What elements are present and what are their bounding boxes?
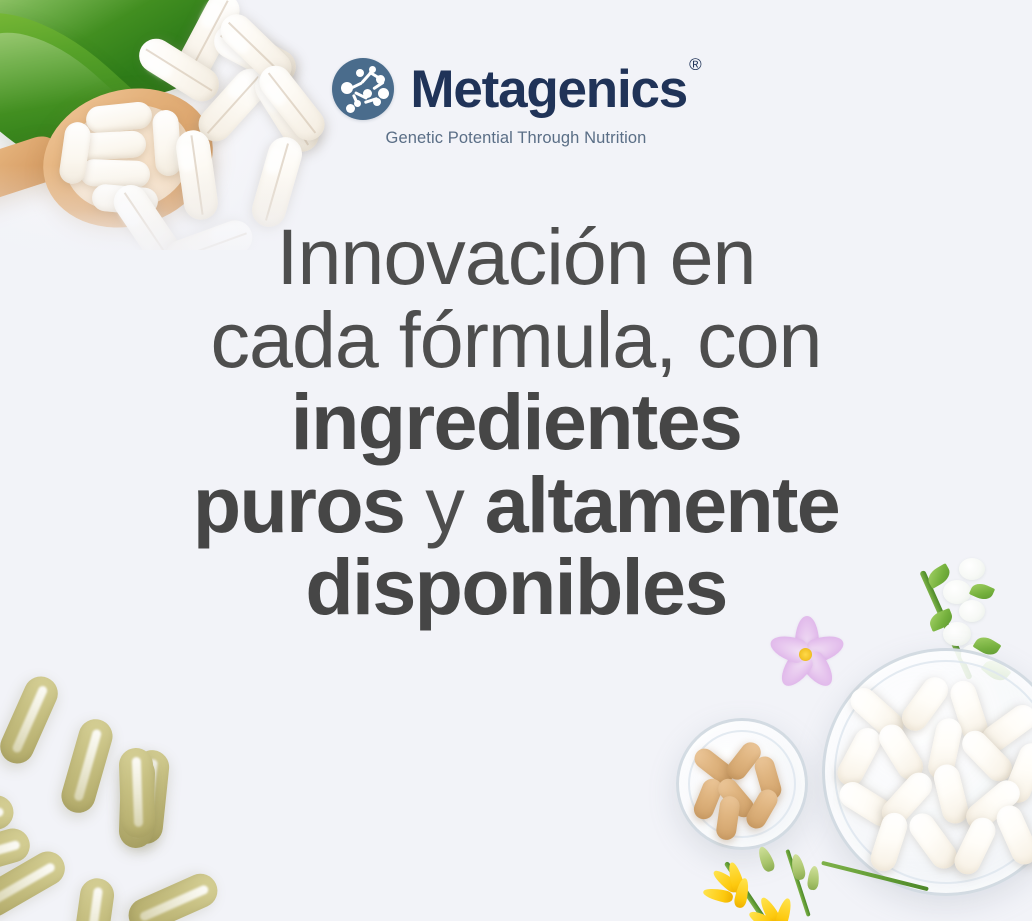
headline-line-4: puros y altamente bbox=[0, 464, 1032, 547]
brand-wordmark: Metagenics® bbox=[410, 63, 699, 116]
headline-line-3: ingredientes bbox=[0, 381, 1032, 464]
headline: Innovación en cada fórmula, con ingredie… bbox=[0, 216, 1032, 629]
brand-name: Metagenics bbox=[410, 60, 687, 119]
headline-line-1: Innovación en bbox=[0, 216, 1032, 299]
headline-line-4-light: y bbox=[404, 460, 484, 549]
headline-line-2: cada fórmula, con bbox=[0, 299, 1032, 382]
brand-tagline: Genetic Potential Through Nutrition bbox=[386, 129, 647, 148]
promo-banner: Metagenics® Genetic Potential Through Nu… bbox=[0, 0, 1032, 921]
headline-line-4-bold-b: altamente bbox=[485, 460, 839, 549]
headline-line-5: disponibles bbox=[0, 546, 1032, 629]
logo-row: Metagenics® bbox=[332, 58, 699, 120]
registered-trademark-icon: ® bbox=[689, 55, 702, 74]
molecule-icon bbox=[332, 58, 394, 120]
metagenics-logo[interactable]: Metagenics® Genetic Potential Through Nu… bbox=[0, 58, 1032, 148]
headline-line-4-bold-a: puros bbox=[193, 460, 404, 549]
